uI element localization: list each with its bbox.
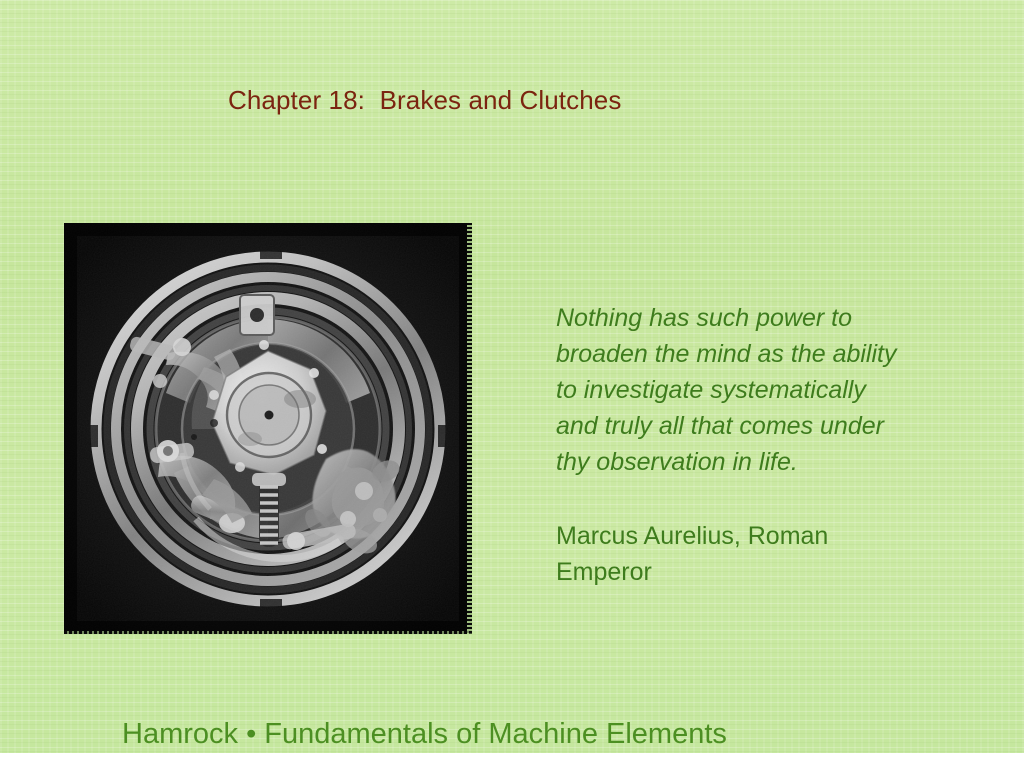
- presentation-slide: Chapter 18: Brakes and Clutches: [0, 0, 1024, 768]
- photo-scan-edge-right: [467, 223, 472, 634]
- quote-attribution: Marcus Aurelius, Roman Emperor: [556, 518, 976, 590]
- quote-line: and truly all that comes under: [556, 408, 996, 444]
- drum-brake-illustration: [64, 223, 472, 634]
- quote-line: Nothing has such power to: [556, 300, 996, 336]
- attribution-line: Marcus Aurelius, Roman: [556, 518, 976, 554]
- slide-footer: Hamrock • Fundamentals of Machine Elemen…: [122, 718, 727, 751]
- attribution-line: Emperor: [556, 554, 976, 590]
- quote-text: Nothing has such power to broaden the mi…: [556, 300, 996, 480]
- photo-scan-edge-bottom: [64, 631, 472, 634]
- quote-line: to investigate systematically: [556, 372, 996, 408]
- drum-brake-photo: [64, 223, 472, 634]
- quote-line: broaden the mind as the ability: [556, 336, 996, 372]
- page-title: Chapter 18: Brakes and Clutches: [228, 85, 621, 116]
- quote-line: thy observation in life.: [556, 444, 996, 480]
